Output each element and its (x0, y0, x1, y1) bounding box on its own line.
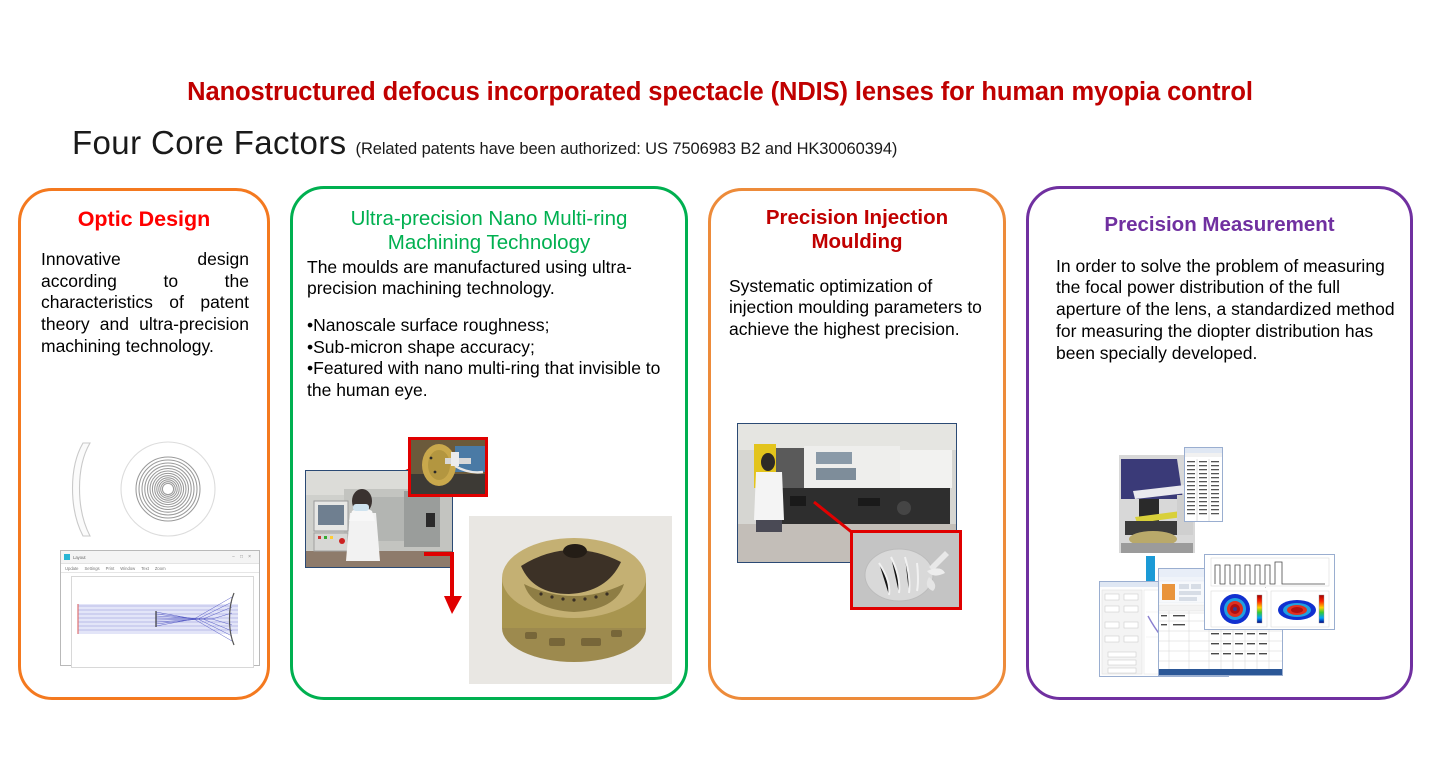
brass-mould-insert-photo (469, 516, 672, 684)
card-title-ultra-precision-machining: Ultra-precision Nano Multi-ring Machinin… (307, 207, 671, 255)
card-bullets-ultra-precision-machining: •Nanoscale surface roughness; •Sub-micro… (307, 315, 673, 402)
diopter-distribution-plots: x (1204, 554, 1335, 630)
window-menu-bar[interactable]: Update Settings Print Window Text Zoom (61, 564, 259, 573)
card-body-optic-design: Innovative design according to the chara… (41, 249, 249, 357)
menu-item-zoom[interactable]: Zoom (155, 566, 166, 571)
menu-item-update[interactable]: Update (65, 566, 79, 571)
window-title-bar: Layout −□× (61, 551, 259, 564)
subtitle-patent-note: (Related patents have been authorized: U… (356, 140, 898, 159)
ray-trace-software-window[interactable]: Layout −□× Update Settings Print Window … (60, 550, 260, 666)
card-title-precision-injection-moulding: Precision Injection Moulding (731, 206, 983, 254)
slide-canvas: Nanostructured defocus incorporated spec… (0, 0, 1440, 768)
card-body-precision-measurement: In order to solve the problem of measuri… (1056, 256, 1396, 364)
machining-spindle-closeup-inset (408, 437, 488, 497)
menu-item-text[interactable]: Text (141, 566, 149, 571)
page-title: Nanostructured defocus incorporated spec… (0, 78, 1440, 107)
ray-diagram-canvas (71, 576, 254, 668)
subtitle-main-text: Four Core Factors (72, 124, 347, 162)
menu-item-window[interactable]: Window (120, 566, 135, 571)
menu-item-print[interactable]: Print (106, 566, 115, 571)
card-title-optic-design: Optic Design (21, 207, 267, 232)
raw-data-table (1184, 447, 1223, 522)
moulded-lens-closeup-inset (850, 530, 962, 610)
card-title-precision-measurement: Precision Measurement (1041, 213, 1398, 237)
app-icon (64, 554, 70, 560)
bullet-nanoscale-roughness: •Nanoscale surface roughness; (307, 315, 673, 337)
window-title: Layout (73, 555, 86, 560)
menu-item-settings[interactable]: Settings (85, 566, 100, 571)
svg-text:x: x (1265, 587, 1266, 589)
bullet-submicron-accuracy: •Sub-micron shape accuracy; (307, 337, 673, 359)
card-body-ultra-precision-machining: The moulds are manufactured using ultra-… (307, 257, 673, 300)
lens-cross-section-and-nano-rings-diagram (62, 437, 232, 542)
window-controls[interactable]: −□× (232, 554, 256, 560)
bullet-nano-multi-ring: •Featured with nano multi-ring that invi… (307, 358, 673, 401)
card-body-precision-injection-moulding: Systematic optimization of injection mou… (729, 276, 987, 341)
subtitle: Four Core Factors (Related patents have … (72, 124, 897, 162)
